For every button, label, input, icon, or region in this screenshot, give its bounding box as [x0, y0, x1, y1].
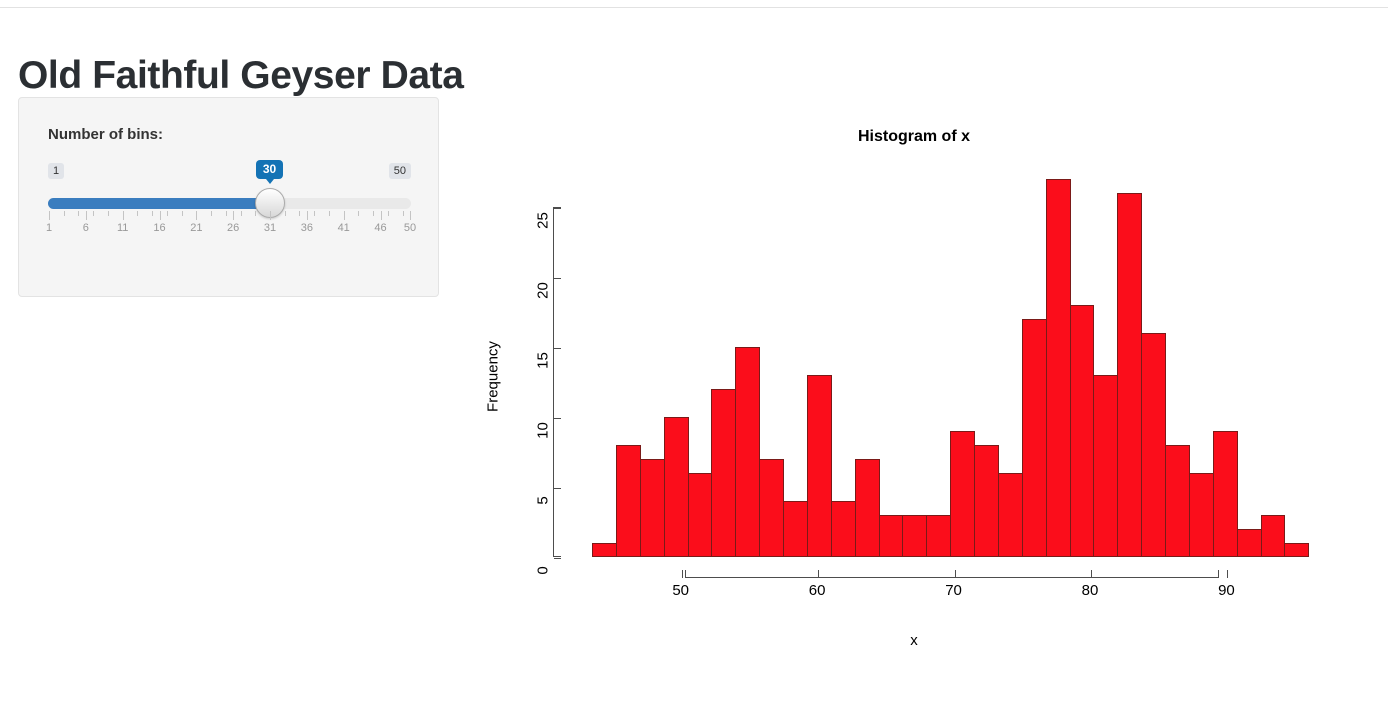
histogram-bar [1141, 333, 1166, 557]
histogram-bar [855, 459, 880, 557]
page-title: Old Faithful Geyser Data [18, 54, 464, 98]
slider-tick-label: 36 [301, 222, 313, 234]
histogram-bar [1261, 515, 1286, 557]
slider-tick-label: 21 [190, 222, 202, 234]
slider-fill [48, 198, 263, 209]
slider-value-bubble: 30 [256, 160, 283, 179]
histogram-bar [974, 445, 999, 557]
slider-tick [388, 211, 389, 216]
histogram-bar [1284, 543, 1309, 557]
app-page: Old Faithful Geyser Data Number of bins:… [0, 0, 1388, 707]
slider-tick [108, 211, 109, 216]
slider-tick [307, 211, 308, 220]
slider-tick [299, 211, 300, 216]
slider-tick-label: 46 [374, 222, 386, 234]
histogram-bar [711, 389, 736, 557]
slider-tick-label: 11 [117, 222, 128, 234]
histogram-bar [1237, 529, 1262, 557]
y-axis-tick-label: 25 [535, 206, 552, 236]
slider-tick [160, 211, 161, 220]
y-axis [553, 207, 561, 557]
y-axis-tick-label: 5 [535, 486, 552, 516]
x-axis-tick [682, 570, 683, 578]
top-divider [0, 7, 1388, 8]
x-axis [685, 570, 1219, 578]
histogram-bar [1070, 305, 1095, 557]
slider-tick [410, 211, 411, 220]
slider-tick [137, 211, 138, 216]
y-axis-tick [554, 558, 561, 559]
histogram-bar [998, 473, 1023, 557]
x-axis-tick [955, 570, 956, 578]
x-axis-tick-label: 50 [672, 582, 689, 599]
x-axis-tick [1227, 570, 1228, 578]
slider-tick [93, 211, 94, 216]
histogram-bar [1093, 375, 1118, 557]
histogram-bar [1117, 193, 1142, 557]
slider-tick [211, 211, 212, 216]
histogram-plot: Histogram of x Frequency x 0510152025 50… [458, 100, 1370, 670]
histogram-bar [688, 473, 713, 557]
histogram-bar [831, 501, 856, 557]
x-axis-tick-label: 90 [1218, 582, 1235, 599]
slider-tick [314, 211, 315, 216]
histogram-bar [759, 459, 784, 557]
slider-tick-label: 16 [153, 222, 165, 234]
slider-tick [381, 211, 382, 220]
y-axis-tick-label: 20 [535, 276, 552, 306]
slider-tick [78, 211, 79, 216]
y-axis-tick-label: 0 [535, 556, 552, 586]
histogram-bar [879, 515, 904, 557]
slider-tick-label: 31 [264, 222, 276, 234]
slider-tick [182, 211, 183, 216]
slider-tick [86, 211, 87, 220]
slider-tick [255, 211, 256, 216]
slider-tick-label: 41 [338, 222, 350, 234]
slider-tick [285, 211, 286, 216]
slider-tick [241, 211, 242, 216]
slider-tick-label: 26 [227, 222, 239, 234]
histogram-bar [616, 445, 641, 557]
slider-tick [270, 211, 271, 220]
slider-tick [49, 211, 50, 220]
slider-tick [226, 211, 227, 216]
slider-tick [152, 211, 153, 216]
histogram-bar [735, 347, 760, 557]
slider-tick-labels: 16111621263136414650 [48, 222, 411, 238]
slider-ticks [48, 211, 411, 221]
y-axis-tick-label: 15 [535, 346, 552, 376]
histogram-bar [1189, 473, 1214, 557]
x-axis-tick [818, 570, 819, 578]
slider-min-label: 1 [48, 163, 64, 179]
slider-tick [329, 211, 330, 216]
histogram-bar [902, 515, 927, 557]
slider-tick [358, 211, 359, 216]
histogram-bar [1165, 445, 1190, 557]
slider-tick [123, 211, 124, 220]
histogram-bar [640, 459, 665, 557]
y-axis-tick [554, 208, 561, 209]
bins-label: Number of bins: [48, 126, 163, 143]
y-axis-tick [554, 278, 561, 279]
y-axis-tick [554, 488, 561, 489]
slider-tick [344, 211, 345, 220]
y-axis-tick [554, 348, 561, 349]
slider-tick [64, 211, 65, 216]
histogram-bar [1046, 179, 1071, 557]
histogram-bar [1022, 319, 1047, 557]
histogram-bar [926, 515, 951, 557]
slider-tick [196, 211, 197, 220]
slider-tick [233, 211, 234, 220]
y-axis-tick-label: 10 [535, 416, 552, 446]
slider-max-label: 50 [389, 163, 411, 179]
x-axis-tick-label: 80 [1082, 582, 1099, 599]
x-axis-tick-label: 60 [809, 582, 826, 599]
x-axis-tick-label: 70 [945, 582, 962, 599]
histogram-bar [807, 375, 832, 557]
histogram-bar [783, 501, 808, 557]
slider-tick-label: 6 [83, 222, 89, 234]
histogram-bar [950, 431, 975, 557]
x-axis-tick [1091, 570, 1092, 578]
bins-slider[interactable]: 1 50 30 16111621263136414650 [48, 156, 411, 256]
histogram-bar [592, 543, 617, 557]
sidebar-panel: Number of bins: 1 50 30 1611162126313641… [18, 97, 439, 297]
slider-tick-label: 1 [46, 222, 52, 234]
slider-tick [373, 211, 374, 216]
histogram-bar [1213, 431, 1238, 557]
slider-tick [167, 211, 168, 216]
slider-tick-label: 50 [404, 222, 416, 234]
histogram-bar [664, 417, 689, 557]
slider-tick [403, 211, 404, 216]
y-axis-tick [554, 418, 561, 419]
